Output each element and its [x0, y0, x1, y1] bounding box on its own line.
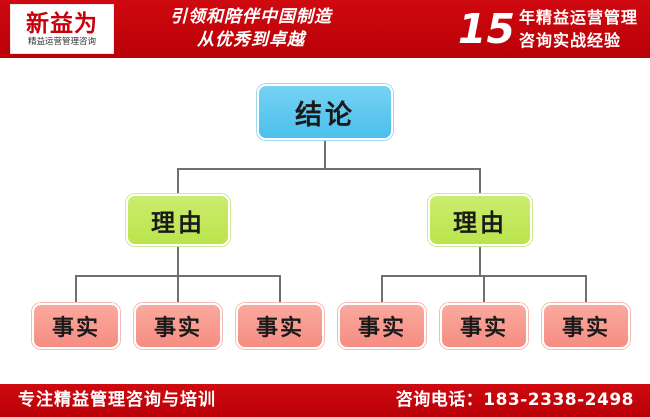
node-conclusion[interactable]: 结论	[257, 84, 393, 140]
header-banner: 新益为 精益运营管理咨询 引领和陪伴中国制造 从优秀到卓越 15 年精益运营管理…	[0, 0, 650, 58]
header-experience-block: 15 年精益运营管理 咨询实战经验	[458, 3, 638, 55]
node-fact-6[interactable]: 事实	[542, 303, 630, 349]
experience-line-1: 年精益运营管理	[519, 6, 638, 29]
node-reason-2[interactable]: 理由	[428, 194, 532, 246]
node-fact-3[interactable]: 事实	[236, 303, 324, 349]
connector-right-fact-drop-3	[585, 275, 587, 303]
footer-tagline: 专注精益管理咨询与培训	[18, 384, 216, 417]
years-number: 15	[458, 9, 515, 50]
connector-reason-right-drop	[479, 168, 481, 194]
node-fact-5[interactable]: 事实	[440, 303, 528, 349]
footer-phone: 咨询电话：183-2338-2498	[396, 384, 634, 417]
company-logo: 新益为 精益运营管理咨询	[10, 4, 114, 54]
footer-banner: 专注精益管理咨询与培训 咨询电话：183-2338-2498	[0, 384, 650, 417]
node-fact-4[interactable]: 事实	[338, 303, 426, 349]
connector-conclusion-stem	[324, 140, 326, 168]
slide-page: 新益为 精益运营管理咨询 引领和陪伴中国制造 从优秀到卓越 15 年精益运营管理…	[0, 0, 650, 417]
connector-right-reason-stem	[479, 246, 481, 275]
logo-main-text: 新益为	[26, 11, 98, 37]
node-fact-1[interactable]: 事实	[32, 303, 120, 349]
connector-reason-bus	[177, 168, 479, 170]
connector-left-reason-stem	[177, 246, 179, 275]
connector-right-fact-drop-1	[381, 275, 383, 303]
connector-left-fact-drop-3	[279, 275, 281, 303]
experience-line-2: 咨询实战经验	[519, 29, 638, 52]
header-slogan: 引领和陪伴中国制造 从优秀到卓越	[126, 6, 376, 52]
connector-reason-left-drop	[177, 168, 179, 194]
slogan-line-2: 从优秀到卓越	[126, 29, 376, 52]
node-reason-1[interactable]: 理由	[126, 194, 230, 246]
slogan-line-1: 引领和陪伴中国制造	[126, 6, 376, 29]
logo-sub-text: 精益运营管理咨询	[28, 37, 96, 48]
connector-right-fact-drop-2	[483, 275, 485, 303]
node-fact-2[interactable]: 事实	[134, 303, 222, 349]
connector-left-fact-drop-2	[177, 275, 179, 303]
connector-left-fact-drop-1	[75, 275, 77, 303]
pyramid-tree-diagram: 结论 理由 理由 事实 事实 事实 事实 事实 事实	[0, 58, 650, 384]
